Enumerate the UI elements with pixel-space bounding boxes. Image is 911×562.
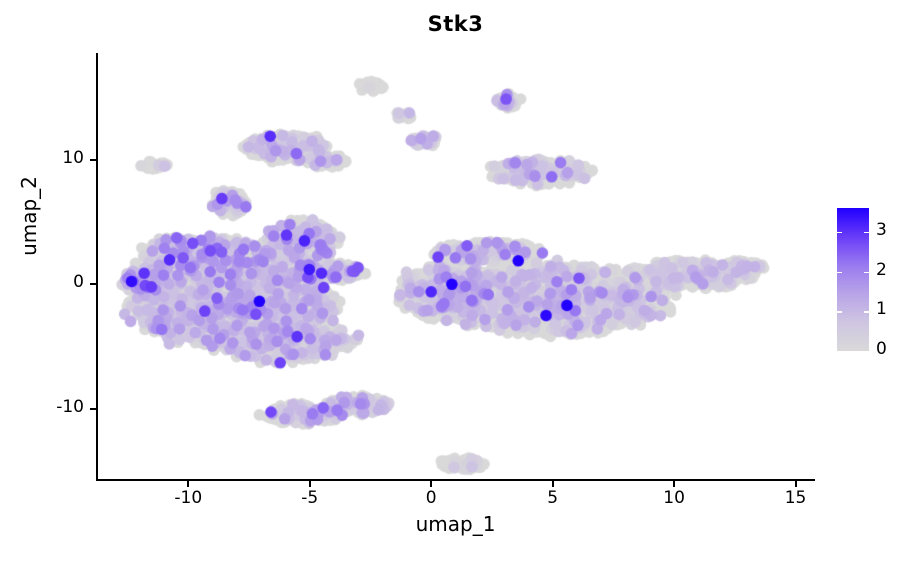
- x-tick-label: 10: [644, 489, 704, 508]
- x-tick-mark: [795, 481, 797, 487]
- page-title: Stk3: [96, 14, 815, 35]
- plot-axes-area: [96, 53, 815, 481]
- x-axis-label: umap_1: [96, 513, 815, 535]
- umap-feature-plot-figure: Stk3 -10-5051015 100-10 umap_1 umap_2 32…: [0, 0, 911, 562]
- y-tick-mark: [90, 283, 96, 285]
- colorbar: [837, 208, 869, 351]
- colorbar-tick-label: 3: [876, 221, 887, 240]
- colorbar-tick-label: 2: [876, 261, 887, 280]
- x-tick-mark: [552, 481, 554, 487]
- colorbar-tick-mark: [864, 351, 869, 353]
- x-tick-label: 0: [401, 489, 461, 508]
- x-tick-mark: [187, 481, 189, 487]
- y-tick-mark: [90, 408, 96, 410]
- colorbar-gradient: [837, 208, 869, 351]
- colorbar-tick-mark: [837, 232, 842, 234]
- y-tick-label: -10: [24, 398, 84, 417]
- y-tick-mark: [90, 159, 96, 161]
- colorbar-tick-mark: [864, 311, 869, 313]
- x-tick-label: 5: [523, 489, 583, 508]
- x-tick-mark: [309, 481, 311, 487]
- colorbar-tick-mark: [864, 232, 869, 234]
- colorbar-tick-mark: [837, 311, 842, 313]
- y-axis-label: umap_2: [18, 126, 40, 306]
- scatter-plot-canvas: [98, 53, 817, 481]
- colorbar-tick-mark: [864, 272, 869, 274]
- x-tick-mark: [430, 481, 432, 487]
- x-tick-mark: [673, 481, 675, 487]
- colorbar-tick-mark: [837, 351, 842, 353]
- colorbar-tick-mark: [837, 272, 842, 274]
- x-tick-label: -5: [280, 489, 340, 508]
- colorbar-tick-label: 1: [876, 300, 887, 319]
- x-tick-label: -10: [158, 489, 218, 508]
- colorbar-tick-label: 0: [876, 340, 887, 359]
- x-tick-label: 15: [766, 489, 826, 508]
